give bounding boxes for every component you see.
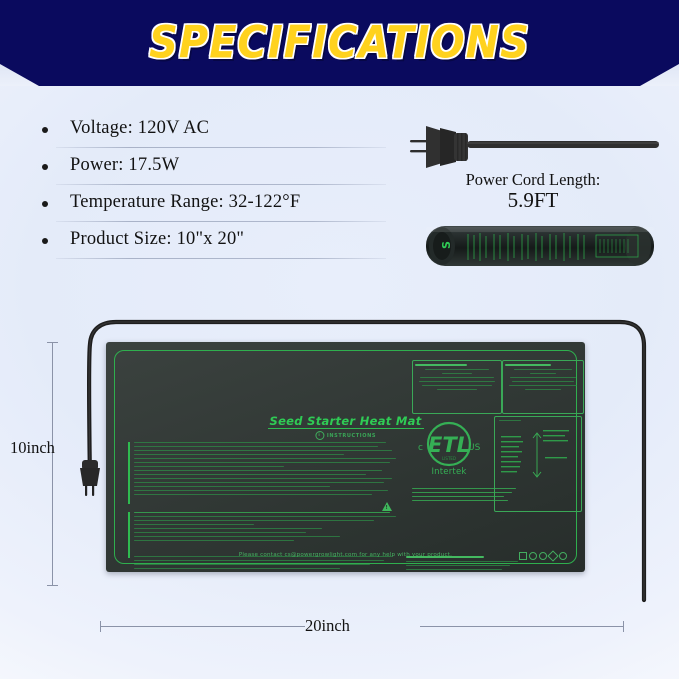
- two-prong-plug-icon: [410, 126, 468, 168]
- label-icon: [519, 552, 527, 560]
- roll-brand-mark: S: [440, 241, 453, 249]
- spec-page: SPECIFICATIONS Voltage: 120V AC Power: 1…: [0, 0, 679, 679]
- spec-row: Product Size: 10"x 20": [28, 229, 386, 259]
- spec-label: Power: 17.5W: [70, 155, 386, 176]
- etl-certification-mark: ETL c US LISTED Intertek: [406, 420, 492, 476]
- dimension-diagram-box: [494, 416, 582, 512]
- spec-label: Product Size: 10"x 20": [70, 229, 386, 250]
- power-cord-value: 5.9FT: [404, 188, 662, 213]
- spec-row: Voltage: 120V AC: [28, 118, 386, 148]
- circle-icon: [559, 552, 567, 560]
- spec-row: Temperature Range: 32-122°F: [28, 192, 386, 222]
- divider: [56, 147, 386, 148]
- header-banner: SPECIFICATIONS: [0, 0, 679, 86]
- etl-letters: ETL: [428, 433, 470, 457]
- divider: [56, 258, 386, 259]
- instructions-label: INSTRUCTIONS: [327, 433, 376, 439]
- spec-label: Temperature Range: 32-122°F: [70, 192, 386, 213]
- spec-label: Voltage: 120V AC: [70, 118, 386, 139]
- warning-icon: [382, 502, 392, 511]
- diamond-icon: [547, 550, 558, 561]
- notice-text-block: [134, 556, 402, 572]
- heat-mat-diagram: Seed Starter Heat Mat i INSTRUCTIONS: [60, 300, 660, 610]
- mat-plug-icon: [80, 460, 100, 496]
- bullet-dot-icon: [42, 238, 48, 244]
- rolled-mat-image: S: [424, 222, 656, 270]
- instructions-text-block: [134, 442, 402, 498]
- height-dimension-label: 10inch: [6, 436, 59, 460]
- do-not-list-block: [406, 556, 526, 572]
- product-label-box-en: [412, 360, 502, 414]
- specifications-list: Voltage: 120V AC Power: 17.5W Temperatur…: [28, 118, 386, 266]
- page-title: SPECIFICATIONS: [149, 17, 530, 69]
- info-icon: i: [315, 431, 324, 440]
- bullet-dot-icon: [42, 127, 48, 133]
- care-symbols-row: [519, 552, 567, 560]
- spec-row: Power: 17.5W: [28, 155, 386, 185]
- bullet-dot-icon: [42, 201, 48, 207]
- circle-icon: [539, 552, 547, 560]
- circle-icon: [529, 552, 537, 560]
- divider: [56, 184, 386, 185]
- mat-title-underline: [268, 428, 424, 429]
- contact-text: Please contact cs@powergrowlight.com for…: [106, 552, 585, 558]
- svg-text:LISTED: LISTED: [442, 456, 456, 461]
- etl-us-mark: US: [468, 443, 481, 453]
- power-cord-caption: Power Cord Length:: [404, 170, 662, 190]
- product-label-box-fr: [502, 360, 584, 414]
- etl-c-mark: c: [418, 443, 423, 453]
- width-dimension-label: 20inch: [305, 616, 350, 636]
- warning-text-block: [134, 512, 402, 544]
- height-dimension-line: [52, 342, 54, 586]
- divider: [56, 221, 386, 222]
- width-dimension-line: [100, 626, 624, 628]
- instructions-heading: i INSTRUCTIONS: [315, 431, 376, 440]
- mat-surface: Seed Starter Heat Mat i INSTRUCTIONS: [106, 342, 585, 572]
- bullet-dot-icon: [42, 164, 48, 170]
- etl-lab-name: Intertek: [406, 467, 492, 477]
